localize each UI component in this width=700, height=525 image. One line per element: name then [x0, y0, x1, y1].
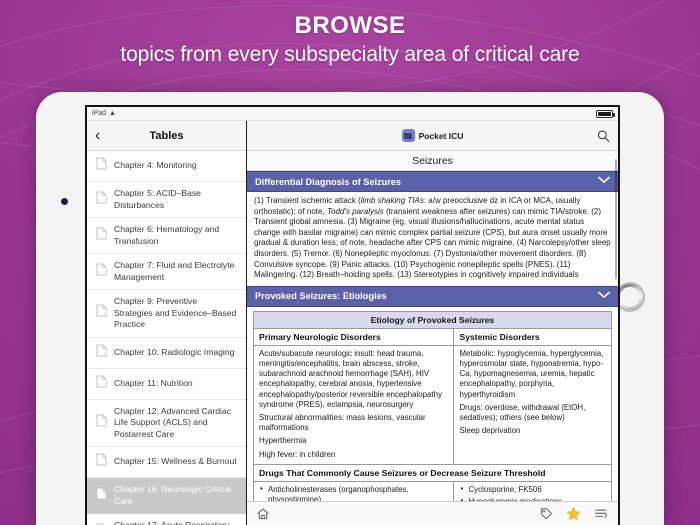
sidebar-item-label: Chapter 15: Wellness & Burnout — [114, 456, 237, 468]
front-camera-icon — [61, 198, 68, 205]
drugs-row: Anticholinesterases (organophosphates, p… — [254, 481, 612, 501]
primary-item: Acute/subacute neurologic insult: head t… — [259, 349, 448, 410]
sidebar-item-chapter-2[interactable]: Chapter 6: Hematology and Transfusion — [87, 218, 246, 254]
sidebar-item-chapter-8[interactable]: Chapter 15: Wellness & Burnout — [87, 447, 246, 478]
systemic-item: Metabolic: hypoglycemia, hyperglycemia, … — [459, 349, 606, 400]
promo-headline-group: BROWSE topics from every subspecialty ar… — [0, 12, 700, 70]
sidebar-title: Tables — [87, 130, 246, 142]
document-icon — [96, 227, 107, 245]
etiology-table-caption: Etiology of Provoked Seizures — [254, 311, 612, 328]
sidebar-item-label: Chapter 7: Fluid and Electrolyte Managem… — [114, 260, 238, 283]
bottom-toolbar — [247, 501, 618, 525]
sidebar-item-label: Chapter 4: Monitoring — [114, 160, 197, 172]
sidebar-item-label: Chapter 16: Neurologic Critical Care — [114, 484, 238, 507]
document-icon — [96, 453, 107, 471]
sidebar-item-chapter-9[interactable]: Chapter 16: Neurologic Critical Care — [87, 478, 246, 514]
sidebar-item-chapter-0[interactable]: Chapter 4: Monitoring — [87, 151, 246, 182]
primary-item: Hyperthermia — [259, 436, 448, 446]
sidebar-item-chapter-3[interactable]: Chapter 7: Fluid and Electrolyte Managem… — [87, 254, 246, 290]
table-caption-row: Etiology of Provoked Seizures — [254, 311, 612, 328]
app-brand-label: Pocket ICU — [419, 131, 464, 141]
document-icon — [96, 375, 107, 393]
ipad-device-frame: iPad ▲ ‹ Tables Chapter 4: MonitoringCha… — [36, 92, 664, 525]
dd-text-part1: (1) Transient ischemic attack ( — [254, 196, 361, 205]
document-icon — [96, 487, 107, 505]
primary-item: Structural abnormalities: mass lesions, … — [259, 413, 448, 433]
sidebar-item-label: Chapter 11: Nutrition — [114, 378, 193, 390]
sidebar-item-chapter-10[interactable]: Chapter 17: Acute Respiratory Distress S… — [87, 514, 246, 525]
table-row: Acute/subacute neurologic insult: head t… — [254, 345, 612, 464]
topic-title-bar: Seizures — [247, 151, 618, 171]
ios-status-bar: iPad ▲ — [87, 107, 618, 121]
content-navigation-bar: Pocket ICU — [247, 121, 618, 151]
list-item: Cyclosporine, FK506 — [459, 485, 606, 495]
chevron-left-icon[interactable]: ‹ — [95, 128, 100, 144]
systemic-item: Sleep deprivation — [459, 426, 606, 436]
star-icon[interactable] — [566, 506, 581, 521]
section-header-provoked-seizures[interactable]: Provoked Seizures: Etiologies — [247, 286, 618, 307]
pocket-icu-logo-icon — [402, 129, 415, 142]
sidebar-navigation-bar: ‹ Tables — [87, 121, 246, 151]
promo-subheadline: topics from every subspecialty area of c… — [0, 40, 700, 70]
primary-item: High fever: in children — [259, 450, 448, 460]
sidebar-item-label: Chapter 10: Radiologic Imaging — [114, 347, 234, 359]
content-scrollbar[interactable] — [615, 159, 617, 279]
cell-primary-neurologic-disorders: Acute/subacute neurologic insult: head t… — [254, 345, 454, 464]
section-title: Provoked Seizures: Etiologies — [255, 291, 387, 301]
content-scroll-area[interactable]: Differential Diagnosis of Seizures (1) T… — [247, 171, 618, 501]
column-header-primary-neurologic: Primary Neurologic Disorders — [254, 328, 454, 345]
notes-list-icon[interactable] — [594, 507, 609, 521]
table-header-row: Primary Neurologic Disorders Systemic Di… — [254, 328, 612, 345]
section-header-differential-diagnosis[interactable]: Differential Diagnosis of Seizures — [247, 171, 618, 192]
cell-drugs-left: Anticholinesterases (organophosphates, p… — [254, 481, 454, 501]
dd-italic-1: limb shaking TIAs: — [361, 196, 426, 205]
sidebar-item-label: Chapter 17: Acute Respiratory Distress S… — [114, 520, 238, 525]
content-pane: Pocket ICU Seizures Differen — [247, 121, 618, 525]
wifi-icon: ▲ — [109, 110, 116, 117]
drugs-left-list: Anticholinesterases (organophosphates, p… — [259, 485, 448, 501]
carrier-label: iPad — [92, 110, 106, 117]
dd-text-part3: (transient weakness after seizures) can … — [254, 207, 611, 280]
cell-drugs-right: Cyclosporine, FK506 Hypoglycemic medicat… — [454, 481, 612, 501]
drugs-table-caption: Drugs That Commonly Cause Seizures or De… — [254, 464, 612, 481]
sidebar-item-chapter-6[interactable]: Chapter 11: Nutrition — [87, 369, 246, 400]
document-icon — [96, 157, 107, 175]
column-header-systemic: Systemic Disorders — [454, 328, 612, 345]
sidebar-item-chapter-7[interactable]: Chapter 12: Advanced Cardiac Life Suppor… — [87, 400, 246, 448]
sidebar-item-label: Chapter 9: Preventive Strategies and Evi… — [114, 296, 238, 331]
document-icon — [96, 191, 107, 209]
sidebar-item-label: Chapter 6: Hematology and Transfusion — [114, 224, 238, 247]
battery-icon — [596, 110, 613, 118]
list-item: Hypoglycemic medications — [459, 497, 606, 501]
dd-italic-2: Todd's paralysis — [327, 207, 384, 216]
drugs-right-list: Cyclosporine, FK506 Hypoglycemic medicat… — [459, 485, 606, 501]
sidebar-item-chapter-4[interactable]: Chapter 9: Preventive Strategies and Evi… — [87, 290, 246, 338]
systemic-item: Drugs: overdose, withdrawal (EtOH, sedat… — [459, 403, 606, 423]
document-icon — [96, 263, 107, 281]
document-icon — [96, 344, 107, 362]
cell-systemic-disorders: Metabolic: hypoglycemia, hyperglycemia, … — [454, 345, 612, 464]
document-icon — [96, 304, 107, 322]
search-icon[interactable] — [597, 129, 610, 142]
promo-headline: BROWSE — [0, 12, 700, 40]
section-title: Differential Diagnosis of Seizures — [255, 177, 401, 187]
topic-title: Seizures — [412, 155, 453, 167]
sidebar-item-label: Chapter 5: ACID–Base Disturbances — [114, 188, 238, 211]
drugs-caption-row: Drugs That Commonly Cause Seizures or De… — [254, 464, 612, 481]
etiology-table-wrapper: Etiology of Provoked Seizures Primary Ne… — [247, 307, 618, 501]
document-icon — [96, 414, 107, 432]
tag-icon[interactable] — [539, 507, 553, 521]
chapter-list[interactable]: Chapter 4: MonitoringChapter 5: ACID–Bas… — [87, 151, 246, 525]
differential-diagnosis-paragraph: (1) Transient ischemic attack (limb shak… — [247, 192, 618, 286]
sidebar-item-label: Chapter 12: Advanced Cardiac Life Suppor… — [114, 406, 238, 441]
chevron-down-icon[interactable] — [598, 176, 610, 187]
home-icon[interactable] — [256, 507, 270, 521]
list-item: Anticholinesterases (organophosphates, p… — [259, 485, 448, 501]
ipad-screen: iPad ▲ ‹ Tables Chapter 4: MonitoringCha… — [85, 105, 620, 525]
chevron-down-icon[interactable] — [598, 291, 610, 302]
app-brand: Pocket ICU — [402, 129, 464, 142]
sidebar-item-chapter-1[interactable]: Chapter 5: ACID–Base Disturbances — [87, 182, 246, 218]
tables-sidebar: ‹ Tables Chapter 4: MonitoringChapter 5:… — [87, 121, 247, 525]
sidebar-item-chapter-5[interactable]: Chapter 10: Radiologic Imaging — [87, 338, 246, 369]
etiology-of-provoked-seizures-table: Etiology of Provoked Seizures Primary Ne… — [253, 311, 612, 501]
